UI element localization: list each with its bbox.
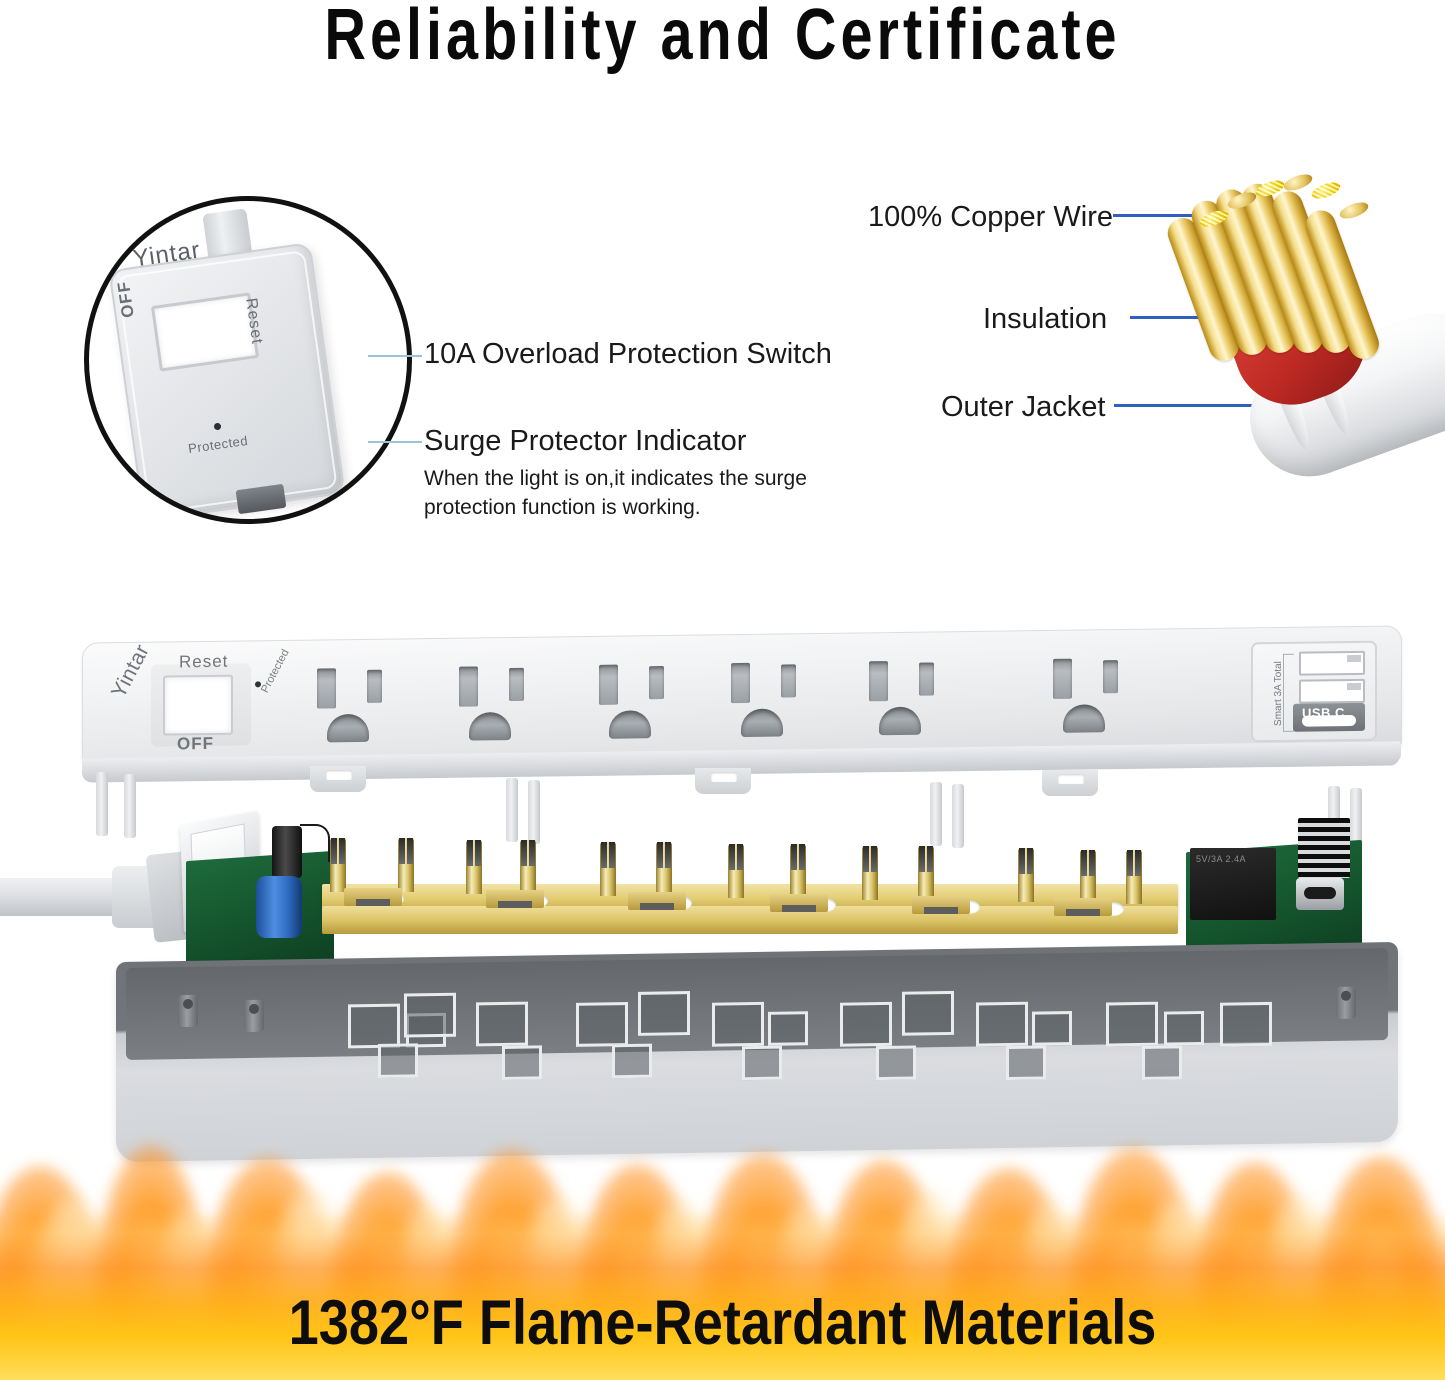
mounting-tab <box>695 768 751 794</box>
mounting-tab <box>1042 770 1098 796</box>
outlet-divider <box>1006 1045 1046 1080</box>
switch-closeup-inset: Yintar Reset OFF Protected <box>84 196 412 524</box>
busbar-contact-pad <box>770 894 828 912</box>
outlet-ground-slot <box>1063 704 1105 733</box>
usb-c-opening <box>1302 715 1356 727</box>
outlet-ground-slot <box>469 712 511 741</box>
outlet-divider <box>712 1002 764 1047</box>
contact-clip <box>398 838 414 892</box>
contact-clip <box>330 838 346 892</box>
contact-clip <box>1126 850 1142 904</box>
busbar-contact-pad <box>486 890 544 908</box>
outlet-divider <box>404 993 456 1038</box>
capacitor <box>256 876 302 938</box>
outlet-neutral-slot <box>869 661 888 701</box>
outlet-divider <box>1220 1002 1272 1047</box>
outlet-divider <box>742 1046 782 1081</box>
copper-strand-end <box>1282 171 1315 193</box>
outlet[interactable] <box>447 661 565 743</box>
outlet-hot-slot <box>781 664 796 697</box>
flame-retardant-title: 1382°F Flame-Retardant Materials <box>101 1288 1344 1358</box>
outlet-hot-slot <box>367 670 382 703</box>
product-infographic: Reliability and Certificate Yintar Reset… <box>0 0 1445 1380</box>
mov-component <box>272 826 302 878</box>
callout-outer-jacket: Outer Jacket <box>941 390 1105 424</box>
outlet-divider <box>840 1002 892 1047</box>
screw-post <box>244 1000 264 1032</box>
lead-line-overload <box>368 355 422 357</box>
busbar-contact-pad <box>344 888 402 906</box>
usb-c-connector-internal <box>1296 878 1344 910</box>
mounting-tab <box>310 766 366 792</box>
contact-clip <box>466 840 482 894</box>
outlet-divider <box>1032 1011 1072 1046</box>
cable-cutaway-illustration <box>1158 150 1445 480</box>
inset-foot <box>236 484 287 514</box>
contact-clip <box>790 844 806 898</box>
alignment-pin <box>952 784 964 848</box>
copper-strand-end <box>1310 179 1343 201</box>
inset-switch-body <box>108 242 345 522</box>
outlet-divider <box>502 1045 542 1080</box>
busbar-contact-pad <box>912 896 970 914</box>
component-lead-wire <box>300 824 330 862</box>
usb-a-port[interactable] <box>1299 679 1365 704</box>
alignment-pin <box>930 782 942 846</box>
power-cord <box>0 878 124 916</box>
outlet-hot-slot <box>649 666 664 699</box>
outlet-divider <box>378 1043 418 1078</box>
outlet[interactable] <box>1041 654 1159 736</box>
inset-content: Yintar Reset OFF Protected <box>89 201 407 519</box>
callout-surge-indicator: Surge Protector Indicator <box>424 424 746 458</box>
alignment-pin <box>528 780 540 844</box>
screw-post <box>1336 987 1356 1019</box>
alignment-pin <box>506 778 518 842</box>
outlet-divider <box>348 1004 400 1049</box>
busbar-contact-pad <box>1054 898 1112 916</box>
outlet-hot-slot <box>1103 660 1118 693</box>
contact-clip <box>728 844 744 898</box>
outlet-ground-slot <box>609 710 651 739</box>
usb-a-connector-housing: 5V/3A 2.4A <box>1190 848 1276 920</box>
lead-line-surge <box>368 441 422 443</box>
strip-brand-logo: Yintar <box>107 641 155 703</box>
heatsink <box>1298 818 1350 878</box>
contact-clip <box>918 846 934 900</box>
outlet-divider <box>902 991 954 1036</box>
outlet-ground-slot <box>879 707 921 736</box>
outlet-ground-slot <box>327 714 369 743</box>
outlet[interactable] <box>857 656 975 738</box>
outlet-neutral-slot <box>731 663 750 703</box>
outlet-neutral-slot <box>1053 659 1072 699</box>
usb-port-block[interactable]: Smart 3A Total USB C <box>1251 641 1377 743</box>
outlet[interactable] <box>305 663 423 745</box>
contact-clip <box>520 840 536 894</box>
contact-clip <box>1080 850 1096 904</box>
outlet-neutral-slot <box>459 666 478 706</box>
contact-clip <box>1018 848 1034 902</box>
callout-overload-switch: 10A Overload Protection Switch <box>424 337 832 371</box>
outlet-divider <box>576 1002 628 1047</box>
page-title: Reliability and Certificate <box>145 0 1301 74</box>
outlet-ground-slot <box>741 708 783 737</box>
outlet[interactable] <box>587 659 705 741</box>
usb-a-port[interactable] <box>1299 651 1365 676</box>
outlet-divider <box>1106 1002 1158 1047</box>
strip-reset-label: Reset <box>179 652 228 673</box>
outlet-divider <box>476 1002 528 1047</box>
outlet-divider <box>1164 1011 1204 1046</box>
busbar-contact-pad <box>628 892 686 910</box>
outlet-divider <box>612 1044 652 1079</box>
alignment-pin <box>124 774 136 838</box>
copper-strand-end <box>1338 199 1371 221</box>
strip-off-label: OFF <box>177 734 214 754</box>
callout-surge-indicator-detail: When the light is on,it indicates the su… <box>424 464 894 522</box>
outlet-divider <box>876 1046 916 1081</box>
callout-insulation: Insulation <box>983 302 1107 336</box>
outlet-divider <box>1142 1045 1182 1080</box>
contact-clip <box>656 842 672 896</box>
outlet-neutral-slot <box>599 665 618 705</box>
usb-housing-rating-text: 5V/3A 2.4A <box>1196 854 1246 864</box>
outlet-hot-slot <box>919 662 934 695</box>
strip-power-switch[interactable] <box>163 675 233 736</box>
contact-clip <box>862 846 878 900</box>
outlet-divider <box>768 1011 808 1046</box>
outlet-divider <box>976 1002 1028 1047</box>
outlet-neutral-slot <box>317 668 336 708</box>
outlet-divider <box>638 991 690 1036</box>
callout-copper-wire: 100% Copper Wire <box>868 200 1113 234</box>
copper-busbar-lower <box>322 906 1178 934</box>
screw-post <box>178 995 198 1027</box>
contact-clip <box>600 842 616 896</box>
strip-protected-label: Protected <box>259 647 292 694</box>
usb-c-port[interactable]: USB C <box>1293 703 1365 732</box>
outlet-hot-slot <box>509 668 524 701</box>
alignment-pin <box>96 772 108 836</box>
outlet[interactable] <box>719 658 837 740</box>
